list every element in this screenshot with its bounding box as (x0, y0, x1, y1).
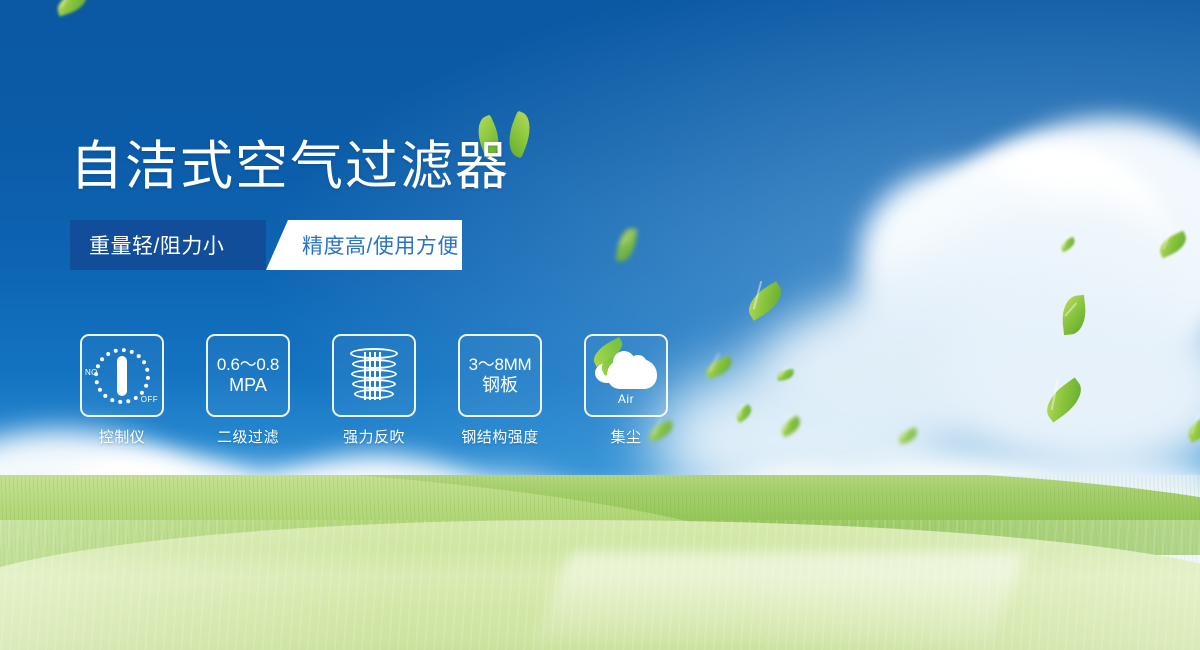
dial-off-label: OFF (141, 395, 158, 404)
feature-label: 强力反吹 (343, 426, 405, 447)
cloud-puff (629, 355, 647, 373)
grass-path-streak (533, 552, 1026, 644)
product-hero-banner: 自洁式空气过滤器 重量轻/阻力小 精度高/使用方便 (0, 0, 1200, 650)
feature-label: 集尘 (610, 426, 641, 447)
headline-block: 自洁式空气过滤器 重量轻/阻力小 精度高/使用方便 (70, 140, 510, 270)
dial-pointer-bar (117, 356, 127, 396)
feature-item-control-instrument[interactable]: NO OFF 控制仪 (70, 334, 174, 447)
feature-item-dust-collection[interactable]: Air 集尘 (574, 334, 678, 447)
feature-item-secondary-filtration[interactable]: 0.6～0.8 MPA 二级过滤 (196, 334, 300, 447)
control-dial-icon: NO OFF (85, 341, 159, 411)
steel-plate-text: 钢板 (469, 375, 532, 396)
pressure-text-icon: 0.6～0.8 MPA (217, 355, 279, 396)
filter-coil-icon (345, 346, 403, 406)
steel-thickness-text: 3～8MM (469, 355, 532, 375)
tagline-badge-left-panel: 重量轻/阻力小 (70, 220, 266, 270)
feature-icon-box[interactable]: 0.6～0.8 MPA (206, 334, 290, 417)
feature-item-powerful-blowback[interactable]: 强力反吹 (322, 334, 426, 447)
pressure-unit-text: MPA (217, 375, 279, 396)
tagline-left-text: 重量轻/阻力小 (89, 230, 224, 260)
feature-icon-box[interactable]: 3～8MM 钢板 (458, 334, 542, 417)
feature-icon-box[interactable]: NO OFF (80, 334, 164, 417)
pressure-range-text: 0.6～0.8 (217, 355, 279, 375)
feature-icon-box[interactable]: Air (584, 334, 668, 417)
feature-icon-box[interactable] (332, 334, 416, 417)
feature-label: 钢结构强度 (461, 426, 539, 447)
cloud-air-caption: Air (593, 392, 659, 406)
air-cloud-icon: Air (593, 345, 659, 407)
dial-on-label: NO (85, 368, 98, 377)
tagline-badge: 重量轻/阻力小 精度高/使用方便 (70, 220, 462, 270)
feature-icon-row: NO OFF 控制仪 0.6～0.8 MPA 二级过滤 (70, 334, 678, 447)
tagline-right-text: 精度高/使用方便 (302, 230, 459, 260)
feature-label: 二级过滤 (217, 426, 279, 447)
feature-item-steel-strength[interactable]: 3～8MM 钢板 钢结构强度 (448, 334, 552, 447)
grass-field (0, 475, 1200, 650)
feature-label: 控制仪 (99, 426, 146, 447)
coil-core-ribs (364, 352, 384, 400)
page-title: 自洁式空气过滤器 (70, 140, 510, 193)
steel-plate-text-icon: 3～8MM 钢板 (469, 355, 532, 396)
